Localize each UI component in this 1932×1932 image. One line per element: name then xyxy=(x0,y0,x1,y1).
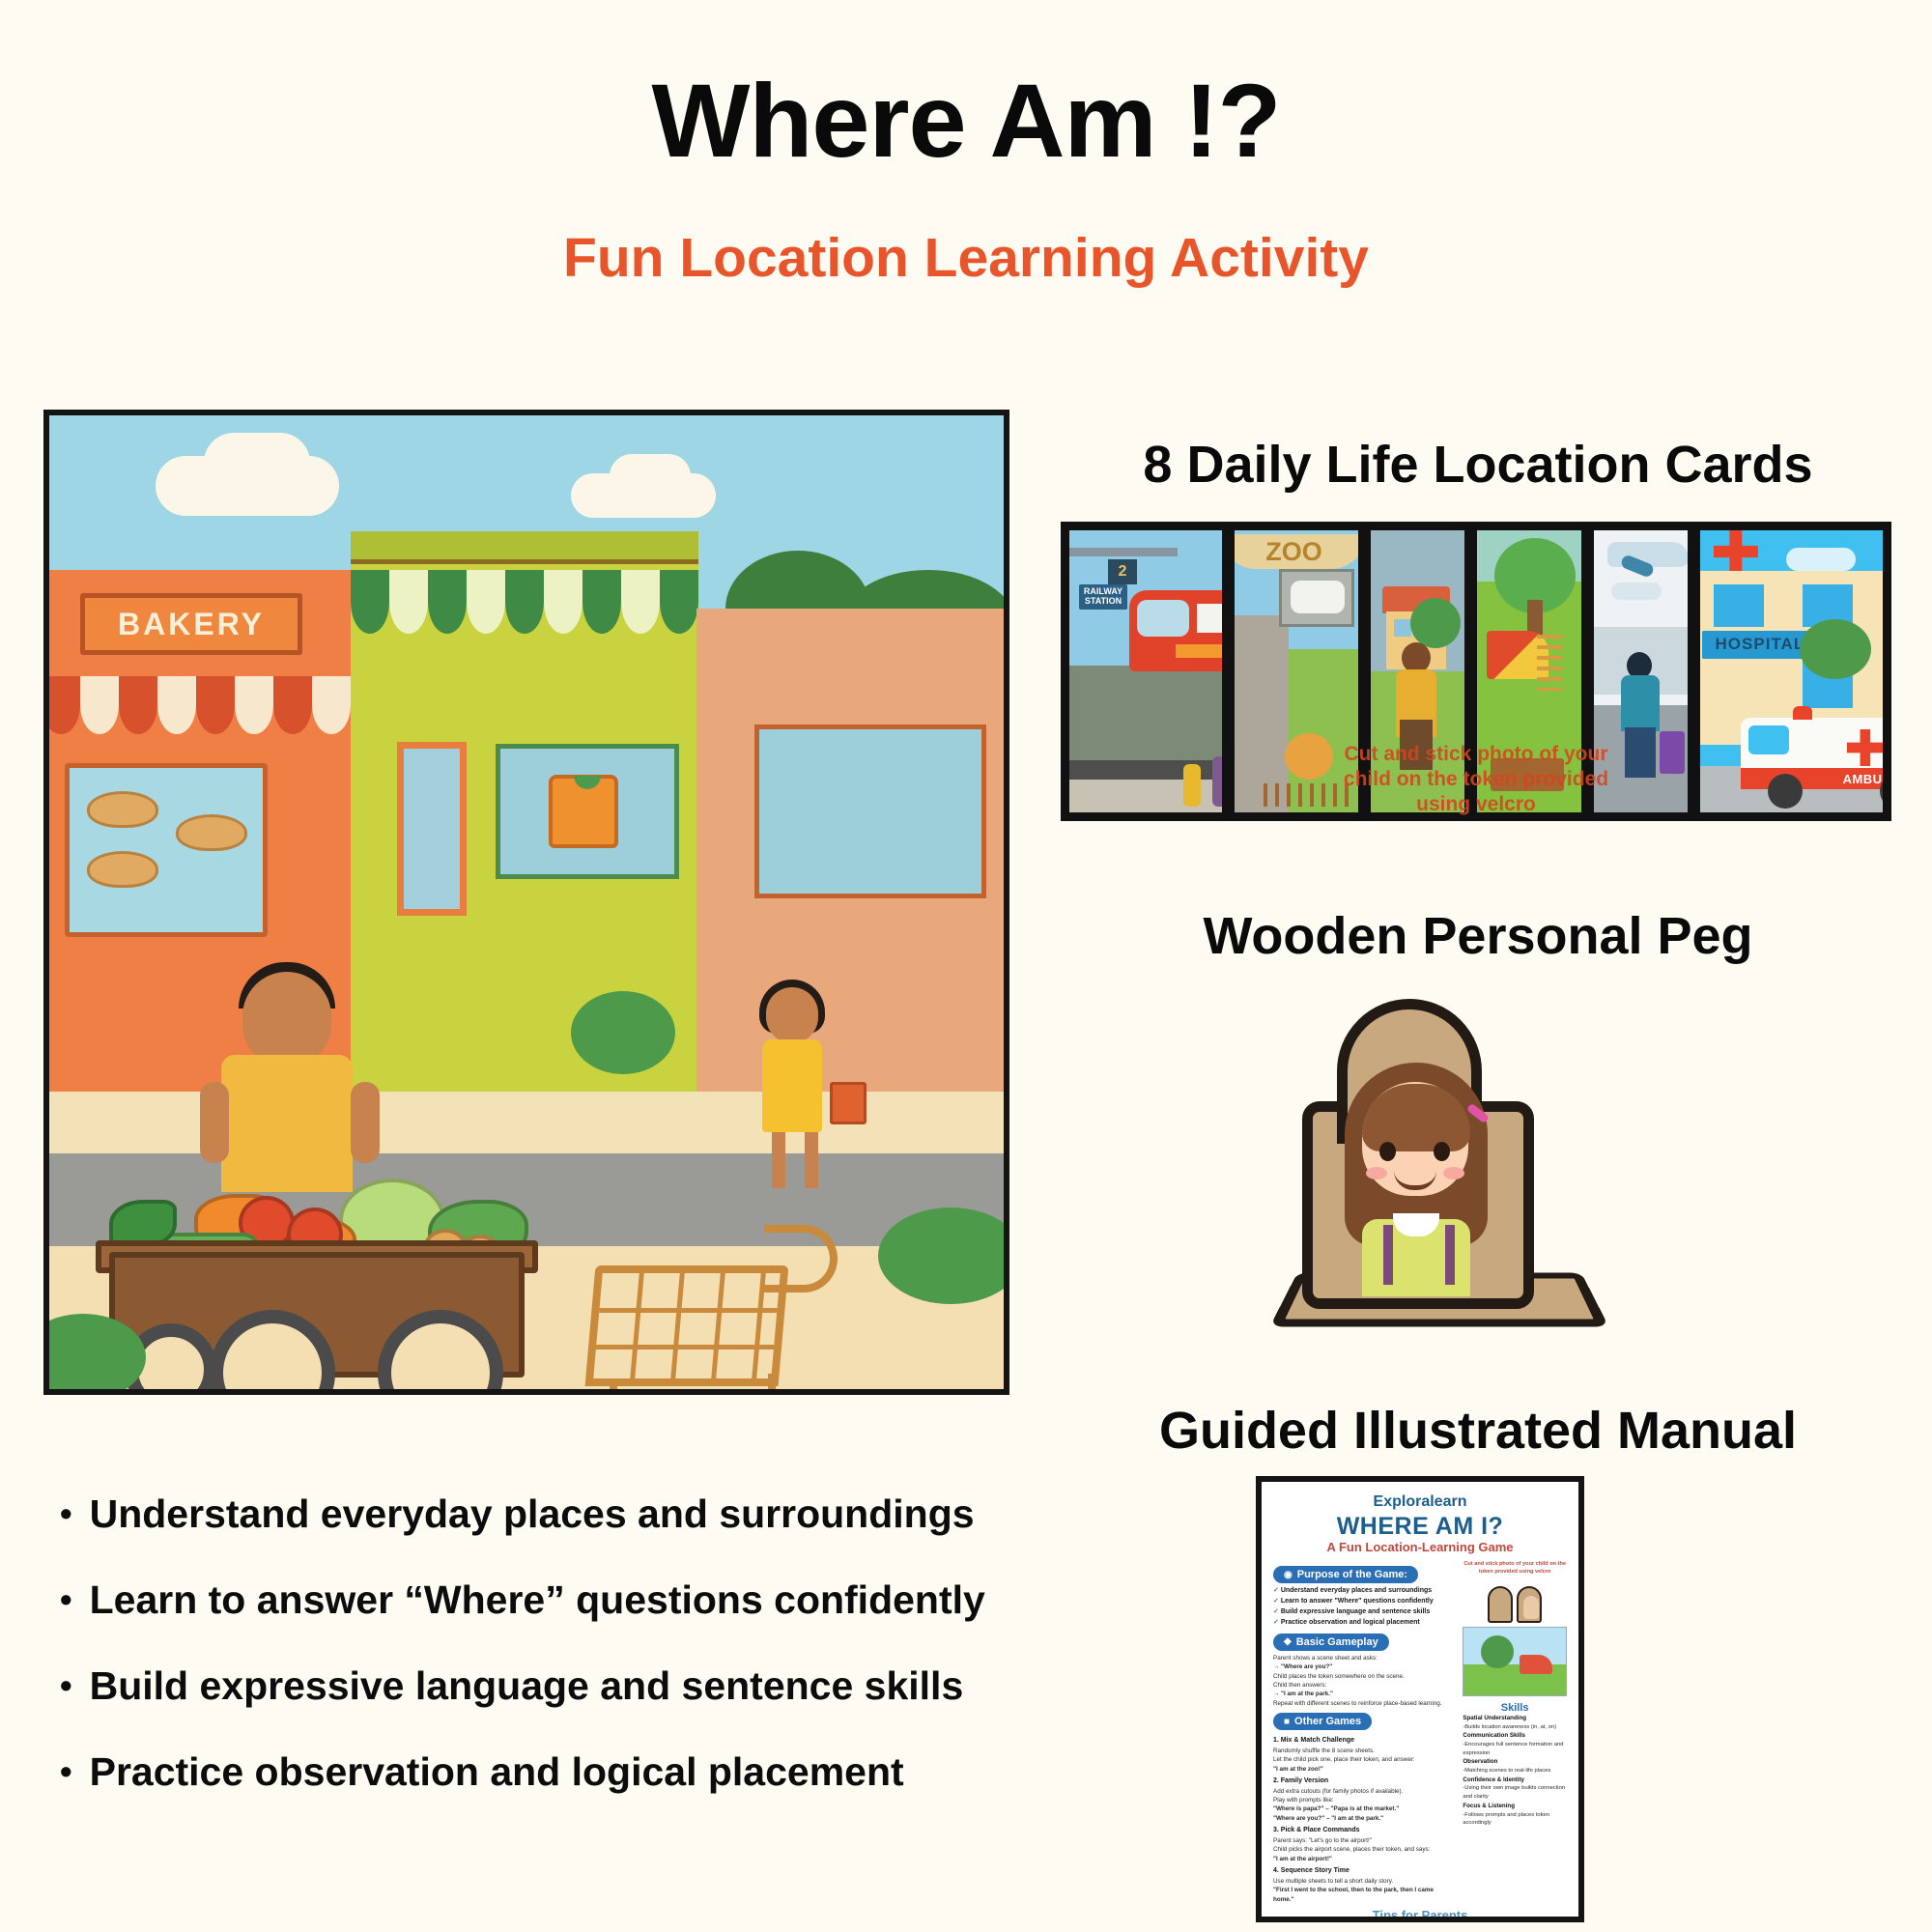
hospital-window xyxy=(1714,584,1764,627)
game-title: 1. Mix & Match Challenge xyxy=(1273,1736,1455,1747)
store-door xyxy=(397,742,467,916)
traveler-legs xyxy=(1625,727,1656,778)
benefit-text: Practice observation and logical placeme… xyxy=(90,1749,904,1795)
ambulance-label: AMBULANCE xyxy=(1843,772,1887,786)
child-cheek-left xyxy=(1366,1167,1387,1179)
gameplay-line: Child then answers: xyxy=(1273,1681,1455,1690)
platform-gantry xyxy=(1065,548,1178,556)
cloud-icon xyxy=(610,454,691,498)
photo-token-icon xyxy=(1517,1586,1542,1623)
list-item: • Learn to answer “Where” questions conf… xyxy=(60,1577,1007,1623)
train-windshield xyxy=(1137,600,1189,637)
manual-scene-thumbnail xyxy=(1463,1627,1567,1696)
game-line: "Where are you?" – "I am at the park." xyxy=(1273,1814,1455,1823)
benefits-list: • Understand everyday places and surroun… xyxy=(60,1492,1007,1836)
manual-skills-heading: Skills xyxy=(1463,1702,1567,1714)
bush-icon xyxy=(571,991,675,1074)
manual-brand: Exploralearn xyxy=(1273,1493,1567,1511)
tree-icon xyxy=(1410,598,1461,648)
product-listing-page: Where Am !? Fun Location Learning Activi… xyxy=(0,0,1932,1932)
manual-other-games-pill: ■ Other Games xyxy=(1273,1713,1372,1730)
bullet-icon: • xyxy=(60,1577,72,1621)
manual-photo-note: Cut and stick photo of your child on the… xyxy=(1463,1561,1567,1577)
location-card-railway-station: 2 RAILWAYSTATION xyxy=(1065,526,1226,816)
bread-icon xyxy=(87,851,158,888)
teacher-skirt xyxy=(1400,720,1433,770)
skill-desc: -Matching scenes to real-life places xyxy=(1463,1767,1567,1776)
train-windows xyxy=(1197,604,1226,633)
bakery-window xyxy=(65,763,268,937)
slide-ladder xyxy=(1537,635,1562,691)
gameplay-line: → "I am at the park." xyxy=(1273,1690,1455,1698)
skill-desc: -Encourages full sentence formation and … xyxy=(1463,1741,1567,1757)
benefit-text: Learn to answer “Where” questions confid… xyxy=(90,1577,985,1623)
gameplay-line: → "Where are you?" xyxy=(1273,1662,1455,1671)
location-cards-strip: 2 RAILWAYSTATION ZOO xyxy=(1061,522,1891,821)
park-bench xyxy=(1491,758,1564,791)
heading-manual: Guided Illustrated Manual xyxy=(1043,1401,1913,1461)
ambulance-windshield xyxy=(1748,725,1789,754)
shopping-bag-icon xyxy=(830,1082,867,1124)
train-stripe xyxy=(1176,644,1226,658)
ambulance-wheel xyxy=(1768,774,1803,809)
child-strap-left xyxy=(1383,1225,1393,1285)
game-line: Let the child pick one, place their toke… xyxy=(1273,1755,1455,1764)
game-line: "I am at the zoo!" xyxy=(1273,1765,1455,1774)
ambulance-label-band: AMBULANCE xyxy=(1741,768,1887,789)
skill-desc: -Builds location awareness (in, at, on) xyxy=(1463,1723,1567,1732)
location-card-zoo: ZOO xyxy=(1231,526,1362,816)
location-card-airport xyxy=(1590,526,1691,816)
game-title: 4. Sequence Story Time xyxy=(1273,1866,1455,1877)
bullet-icon: • xyxy=(60,1492,72,1535)
zoo-label: ZOO xyxy=(1265,537,1322,567)
manual-gameplay-body: Parent shows a scene sheet and asks: → "… xyxy=(1273,1654,1455,1709)
heading-location-cards: 8 Daily Life Location Cards xyxy=(1043,435,1913,495)
page-subtitle: Fun Location Learning Activity xyxy=(0,228,1932,289)
railway-station-sign: RAILWAYSTATION xyxy=(1079,584,1127,610)
gamepad-icon: ■ xyxy=(1284,1717,1290,1727)
trolley-leg xyxy=(768,1374,776,1395)
hospital-label: HOSPITAL xyxy=(1716,635,1805,653)
list-item: • Practice observation and logical place… xyxy=(60,1749,1007,1795)
guided-manual-page: Exploralearn WHERE AM I? A Fun Location-… xyxy=(1256,1476,1584,1922)
zebra-icon xyxy=(1291,581,1345,613)
game-line: Add extra cutouts (for family photos if … xyxy=(1273,1787,1455,1796)
other-games-heading: Other Games xyxy=(1294,1716,1361,1727)
blank-token-icon xyxy=(1488,1586,1513,1623)
gameplay-line: Parent shows a scene sheet and asks: xyxy=(1273,1654,1455,1662)
girl-dress xyxy=(762,1039,822,1132)
tree-icon xyxy=(1800,619,1871,679)
gameplay-line: Repeat with different scenes to reinforc… xyxy=(1273,1699,1455,1708)
lion-icon xyxy=(1285,733,1333,780)
manual-left-column: ◉ Purpose of the Game: Understand everyd… xyxy=(1273,1561,1455,1904)
platform-number-sign: 2 xyxy=(1108,559,1137,584)
house-window xyxy=(1394,619,1411,637)
manual-gameplay-pill: ◆ Basic Gameplay xyxy=(1273,1634,1389,1651)
game-line: "I am at the airport!" xyxy=(1273,1855,1455,1863)
cloud-icon xyxy=(1611,582,1662,600)
manual-title: WHERE AM I? xyxy=(1273,1513,1567,1541)
bullet-icon: • xyxy=(60,1663,72,1707)
third-shop-building xyxy=(696,609,1009,1111)
game-title: 3. Pick & Place Commands xyxy=(1273,1826,1455,1836)
manual-other-games: 1. Mix & Match Challenge Randomly shuffl… xyxy=(1273,1736,1455,1904)
benefit-text: Build expressive language and sentence s… xyxy=(90,1663,964,1709)
child-cheek-right xyxy=(1443,1167,1464,1179)
game-line: Randomly shuffle the 8 scene sheets. xyxy=(1273,1747,1455,1755)
girl-head xyxy=(766,987,818,1043)
zoo-fence xyxy=(1264,783,1349,807)
skill-title: Focus & Listening xyxy=(1463,1803,1515,1809)
skill-desc: -Follows prompts and places token accord… xyxy=(1463,1811,1567,1828)
shopping-trolley xyxy=(585,1265,789,1386)
platform-number: 2 xyxy=(1119,563,1127,581)
game-line: "Where is papa?" – "Papa is at the marke… xyxy=(1273,1804,1455,1813)
cloud-icon xyxy=(204,433,310,493)
store-awning xyxy=(351,570,698,634)
list-item: • Understand everyday places and surroun… xyxy=(60,1492,1007,1537)
grandmother-figure xyxy=(1212,756,1226,807)
page-title: Where Am !? xyxy=(0,66,1932,175)
store-cornice xyxy=(351,531,698,564)
gameplay-line: Child places the token somewhere on the … xyxy=(1273,1672,1455,1681)
list-item: Build expressive language and sentence s… xyxy=(1273,1607,1455,1618)
vendor-body xyxy=(221,1055,353,1192)
location-card-hospital: HOSPITAL AMBULANCE xyxy=(1696,526,1887,816)
skill-desc: -Using their own image builds connection… xyxy=(1463,1784,1567,1801)
skill-title: Observation xyxy=(1463,1758,1497,1765)
shop-window xyxy=(754,724,986,898)
list-item: • Build expressive language and sentence… xyxy=(60,1663,1007,1709)
gameplay-heading: Basic Gameplay xyxy=(1296,1636,1378,1648)
location-card-school-house xyxy=(1367,526,1468,816)
traveler-body xyxy=(1621,675,1660,731)
slide-icon xyxy=(1520,1655,1552,1674)
child-eye-left xyxy=(1379,1142,1396,1161)
wooden-peg-illustration xyxy=(1256,966,1642,1372)
purpose-heading: Purpose of the Game: xyxy=(1297,1569,1407,1580)
zoo-arch-sign: ZOO xyxy=(1231,534,1362,569)
bullet-icon: • xyxy=(60,1749,72,1793)
manual-purpose-pill: ◉ Purpose of the Game: xyxy=(1273,1566,1418,1583)
tshirt-icon xyxy=(549,775,618,848)
game-line: Use multiple sheets to tell a short dail… xyxy=(1273,1877,1455,1886)
manual-purpose-list: Understand everyday places and surroundi… xyxy=(1273,1586,1455,1628)
manual-tagline: A Fun Location-Learning Game xyxy=(1273,1541,1567,1555)
skill-title: Spatial Understanding xyxy=(1463,1715,1526,1721)
child-figure xyxy=(1183,764,1201,807)
game-line: Play with prompts like: xyxy=(1273,1796,1455,1804)
benefit-text: Understand everyday places and surroundi… xyxy=(90,1492,975,1537)
trolley-leg xyxy=(610,1383,617,1395)
bread-icon xyxy=(176,814,247,851)
game-line: Parent says: "Let's go to the airport!" xyxy=(1273,1836,1455,1845)
dice-icon: ◆ xyxy=(1284,1636,1292,1647)
skill-title: Communication Skills xyxy=(1463,1732,1525,1739)
location-card-park xyxy=(1473,526,1584,816)
ambulance-siren xyxy=(1793,706,1812,720)
list-item: Practice observation and logical placeme… xyxy=(1273,1618,1455,1629)
vendor-arm-right xyxy=(351,1082,380,1163)
bakery-awning xyxy=(43,676,351,734)
game-line: "First I went to the school, then to the… xyxy=(1273,1886,1455,1904)
clothing-store-building xyxy=(351,531,698,1111)
brain-icon: ◉ xyxy=(1284,1570,1293,1580)
list-item: Learn to answer "Where" questions confid… xyxy=(1273,1597,1455,1607)
bakery-sign-text: BAKERY xyxy=(80,593,302,655)
game-title: 2. Family Version xyxy=(1273,1776,1455,1787)
skill-title: Confidence & Identity xyxy=(1463,1776,1524,1783)
cloud-icon xyxy=(1786,548,1856,571)
vendor-arm-left xyxy=(200,1082,229,1163)
girl-leg-right xyxy=(805,1132,818,1188)
child-strap-right xyxy=(1445,1225,1455,1285)
vendor-head xyxy=(242,972,331,1065)
child-eye-right xyxy=(1434,1142,1450,1161)
bakery-signboard: BAKERY xyxy=(43,570,351,676)
game-line: Child picks the airport scene, places th… xyxy=(1273,1845,1455,1854)
suitcase-icon xyxy=(1660,731,1685,774)
main-scene-illustration: BAKERY xyxy=(43,410,1009,1395)
manual-tips-heading: Tips for Parents xyxy=(1273,1908,1567,1922)
list-item: Understand everyday places and surroundi… xyxy=(1273,1586,1455,1597)
bread-icon xyxy=(87,791,158,828)
manual-columns: ◉ Purpose of the Game: Understand everyd… xyxy=(1273,1561,1567,1904)
heading-wooden-peg: Wooden Personal Peg xyxy=(1043,906,1913,966)
manual-right-column: Cut and stick photo of your child on the… xyxy=(1463,1561,1567,1904)
girl-leg-left xyxy=(772,1132,785,1188)
manual-skills-list: Spatial Understanding -Builds location a… xyxy=(1463,1714,1567,1828)
manual-token-illustration xyxy=(1463,1578,1567,1623)
